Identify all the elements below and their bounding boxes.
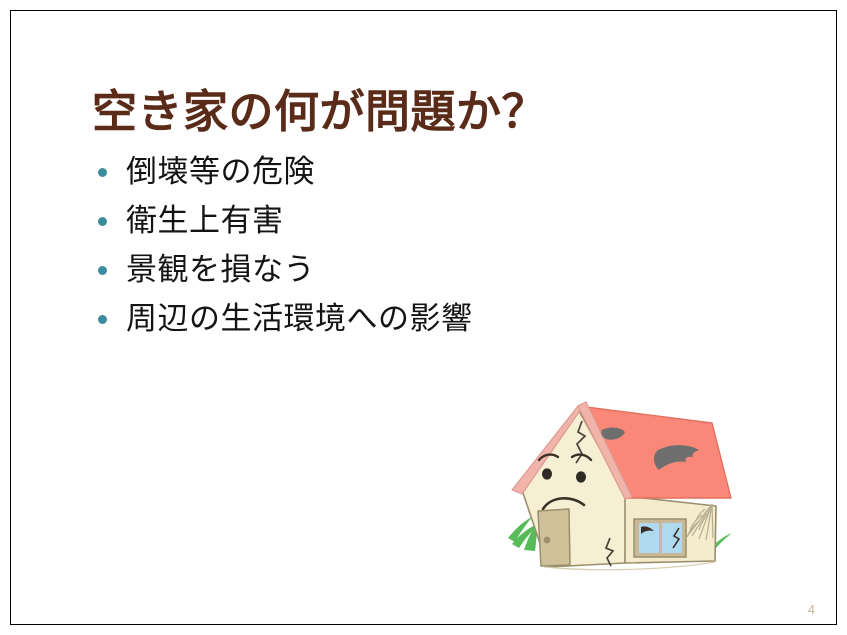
slide: 空き家の何が問題か？ 倒壊等の危険 衛生上有害 景観を損なう 周辺の生活環境への… [0, 0, 847, 635]
list-item-label: 衛生上有害 [126, 204, 284, 238]
page-number: 4 [808, 602, 815, 617]
bullet-point-icon [98, 217, 107, 226]
sad-house-icon [486, 378, 752, 578]
door-knob [544, 537, 551, 544]
list-item: 倒壊等の危険 [98, 148, 698, 197]
page-title: 空き家の何が問題か？ [92, 86, 547, 138]
bullet-point-icon [98, 168, 107, 177]
eye-right [576, 471, 586, 482]
bullet-point-icon [98, 315, 107, 324]
eye-left [542, 468, 552, 479]
list-item: 景観を損なう [98, 246, 698, 295]
list-item: 衛生上有害 [98, 197, 698, 246]
window-pane-right [662, 523, 682, 553]
list-item-label: 景観を損なう [126, 253, 315, 287]
house-door [538, 509, 570, 566]
list-item-label: 周辺の生活環境への影響 [126, 302, 473, 336]
list-item-label: 倒壊等の危険 [126, 155, 315, 189]
bullet-list: 倒壊等の危険 衛生上有害 景観を損なう 周辺の生活環境への影響 [98, 148, 698, 344]
list-item: 周辺の生活環境への影響 [98, 295, 698, 344]
bullet-point-icon [98, 266, 107, 275]
